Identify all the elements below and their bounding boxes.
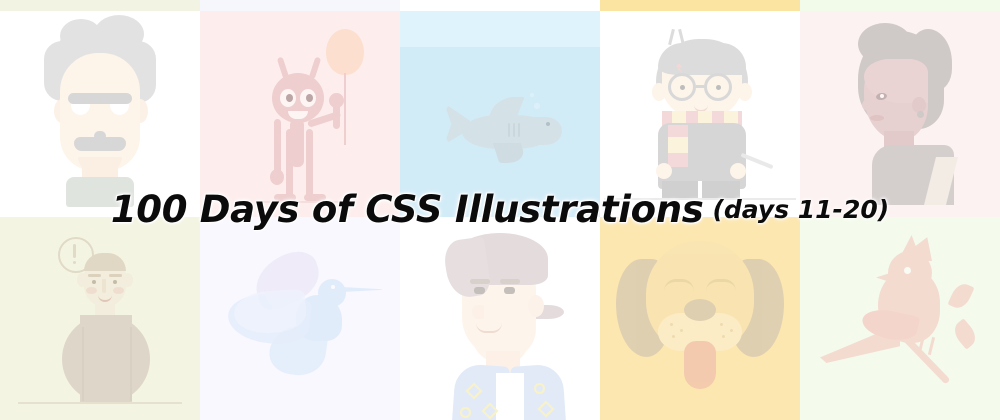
thumb-top-sliver-lavender[interactable] bbox=[200, 0, 400, 11]
grid-row-previous bbox=[0, 0, 1000, 11]
thumb-top-sliver-white[interactable] bbox=[400, 0, 600, 11]
illustration-pompadour-man bbox=[400, 217, 600, 420]
thumb-dog-face[interactable] bbox=[600, 217, 800, 420]
thumb-top-sliver-green[interactable] bbox=[800, 0, 1000, 11]
thumb-alien-balloon[interactable] bbox=[200, 11, 400, 217]
illustration-grid bbox=[0, 0, 1000, 420]
thumb-mustache-man[interactable] bbox=[0, 11, 200, 217]
illustration-hummingbird bbox=[200, 217, 400, 420]
thumb-thinking-man[interactable] bbox=[0, 217, 200, 420]
illustration-harry-potter bbox=[600, 11, 800, 217]
illustration-cardinal-bird bbox=[800, 217, 1000, 420]
illustration-shark bbox=[400, 11, 600, 217]
thumb-pompadour-man[interactable] bbox=[400, 217, 600, 420]
thumb-hummingbird[interactable] bbox=[200, 217, 400, 420]
gallery-page: 100 Days of CSS Illustrations(days 11-20… bbox=[0, 0, 1000, 420]
thumb-harry-potter[interactable] bbox=[600, 11, 800, 217]
thumb-cardinal-bird[interactable] bbox=[800, 217, 1000, 420]
illustration-mustache-man bbox=[0, 11, 200, 217]
illustration-alien-balloon bbox=[200, 11, 400, 217]
illustration-dog-face bbox=[600, 217, 800, 420]
grid-row-2 bbox=[0, 217, 1000, 420]
thumb-shark[interactable] bbox=[400, 11, 600, 217]
thumb-top-sliver-cream[interactable] bbox=[0, 0, 200, 11]
grid-row-1 bbox=[0, 11, 1000, 217]
illustration-woman-profile bbox=[800, 11, 1000, 217]
thumb-woman-profile[interactable] bbox=[800, 11, 1000, 217]
illustration-thinking-man bbox=[0, 217, 200, 420]
thumb-top-sliver-yellow[interactable] bbox=[600, 0, 800, 11]
